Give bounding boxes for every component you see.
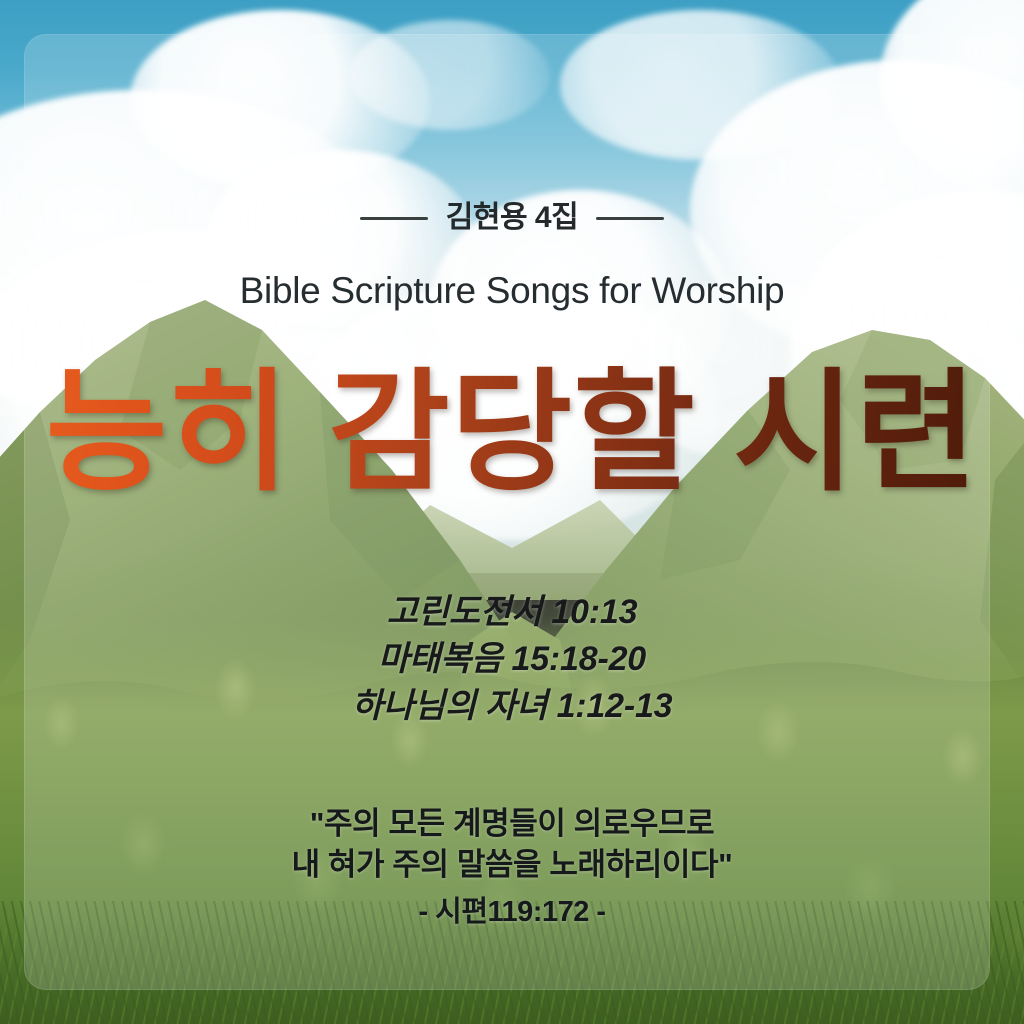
page-title: 능히 감당할 시련 xyxy=(0,366,1024,501)
verse-quote-line-1: "주의 모든 계명들이 의로우므로 xyxy=(0,804,1024,845)
scripture-reference-list: 고린도전서 10:13 마태복음 15:18-20 하나님의 자녀 1:12-1… xyxy=(0,589,1024,730)
eyebrow: 김현용 4집 xyxy=(0,203,1024,233)
verse-quote-block: "주의 모든 계명들이 의로우므로 내 혀가 주의 말씀을 노래하리이다" - … xyxy=(0,804,1024,931)
album-eyebrow-label: 김현용 4집 xyxy=(446,203,578,233)
verse-quote-line-2: 내 혀가 주의 말씀을 노래하리이다" xyxy=(0,845,1024,886)
scripture-reference-item: 고린도전서 10:13 xyxy=(0,589,1024,636)
scripture-reference-item: 하나님의 자녀 1:12-13 xyxy=(0,683,1024,730)
verse-attribution: - 시편119:172 - xyxy=(0,893,1024,931)
poster-content: 김현용 4집 Bible Scripture Songs for Worship… xyxy=(0,0,1024,1024)
english-subtitle: Bible Scripture Songs for Worship xyxy=(0,271,1024,312)
scripture-reference-item: 마태복음 15:18-20 xyxy=(0,636,1024,683)
horizontal-rule-right-icon xyxy=(596,217,664,220)
album-cover-poster: 김현용 4집 Bible Scripture Songs for Worship… xyxy=(0,0,1024,1024)
horizontal-rule-left-icon xyxy=(360,217,428,220)
